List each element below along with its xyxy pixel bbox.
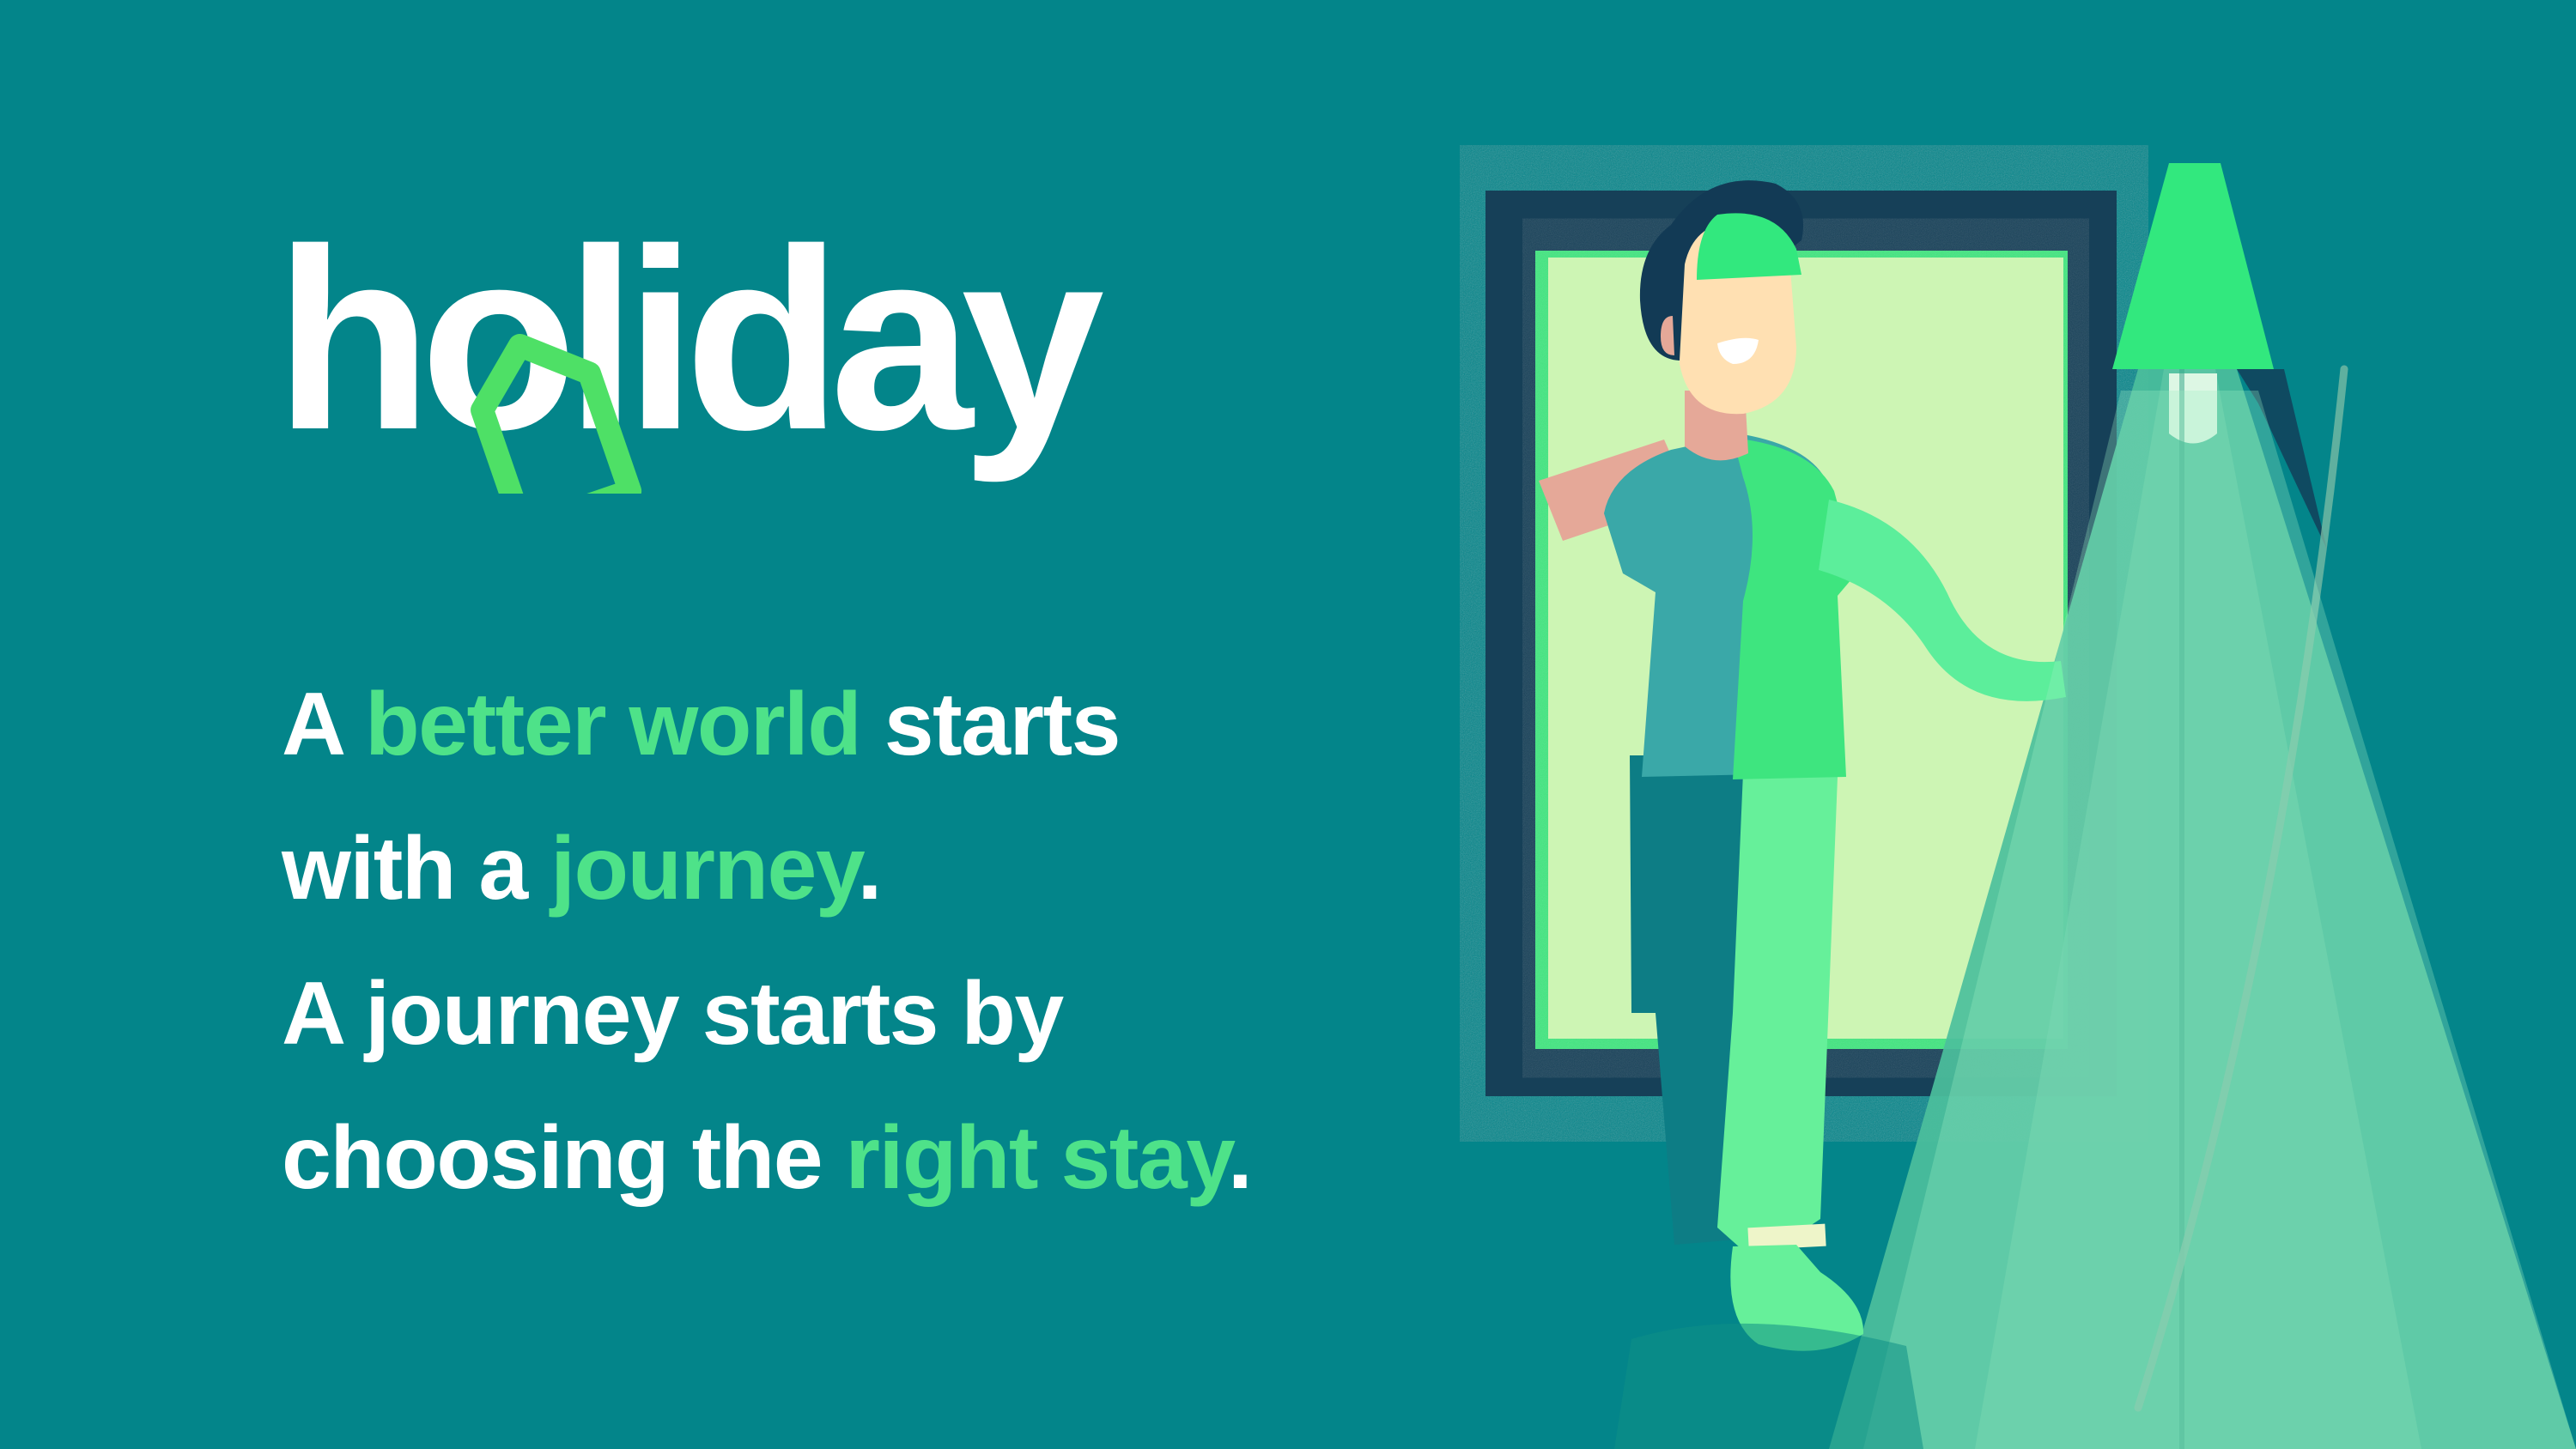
- lamp-shade-icon: [2112, 163, 2274, 369]
- tagline-line-3: A journey starts by: [282, 942, 1484, 1086]
- tagline-line-2: with a journey.: [282, 797, 1484, 941]
- tagline-line-1: A better world starts: [282, 652, 1484, 797]
- tagline-accent-right-stay: right stay: [846, 1108, 1228, 1208]
- floor-shadow: [1614, 1324, 1923, 1449]
- brand-logo[interactable]: holiday: [275, 210, 1219, 494]
- illustration: [1460, 0, 2576, 1449]
- tagline-accent-journey: journey: [550, 819, 857, 919]
- brand-wordmark: holiday: [275, 210, 1092, 468]
- text-column: holiday A better world starts with a jou…: [275, 210, 1494, 494]
- tagline-accent-better-world: better world: [365, 675, 860, 774]
- poster-canvas: holiday A better world starts with a jou…: [0, 0, 2576, 1449]
- tagline-line-4: choosing the right stay.: [282, 1086, 1484, 1230]
- tagline: A better world starts with a journey. A …: [282, 652, 1484, 1231]
